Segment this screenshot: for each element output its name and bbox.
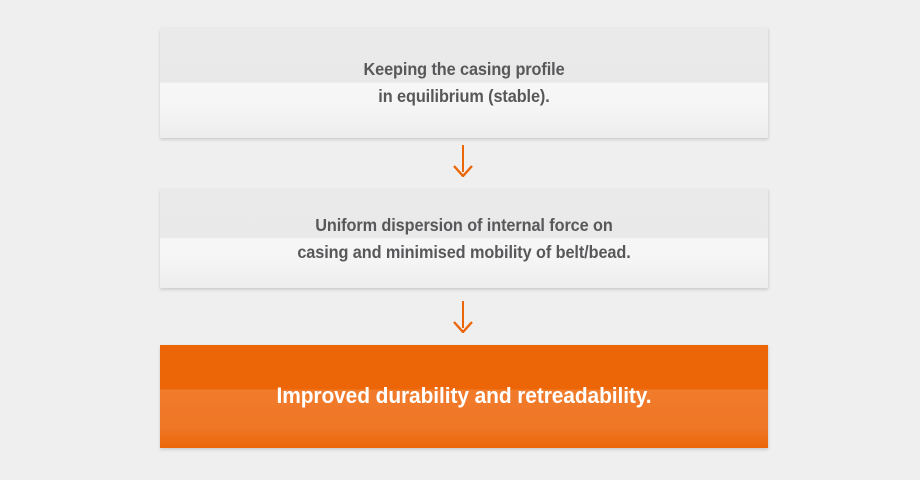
arrow-down-icon: [449, 145, 477, 177]
flow-step-line: Uniform dispersion of internal force on: [315, 215, 612, 235]
flow-diagram: Keeping the casing profile in equilibriu…: [0, 0, 920, 480]
flow-step-text: Uniform dispersion of internal force on …: [181, 212, 746, 265]
flow-step-improved-durability: Improved durability and retreadability.: [160, 345, 768, 448]
flow-step-text: Improved durability and retreadability.: [181, 379, 746, 413]
arrow-down-icon: [449, 301, 477, 333]
flow-step-line: casing and minimised mobility of belt/be…: [297, 242, 630, 262]
flow-step-line: Improved durability and retreadability.: [276, 383, 651, 408]
flow-step-uniform-dispersion: Uniform dispersion of internal force on …: [160, 189, 768, 288]
flow-step-text: Keeping the casing profile in equilibriu…: [181, 56, 746, 109]
flow-step-keeping-casing-profile: Keeping the casing profile in equilibriu…: [160, 28, 768, 138]
flow-step-line: in equilibrium (stable).: [378, 86, 549, 106]
flow-step-line: Keeping the casing profile: [363, 59, 564, 79]
